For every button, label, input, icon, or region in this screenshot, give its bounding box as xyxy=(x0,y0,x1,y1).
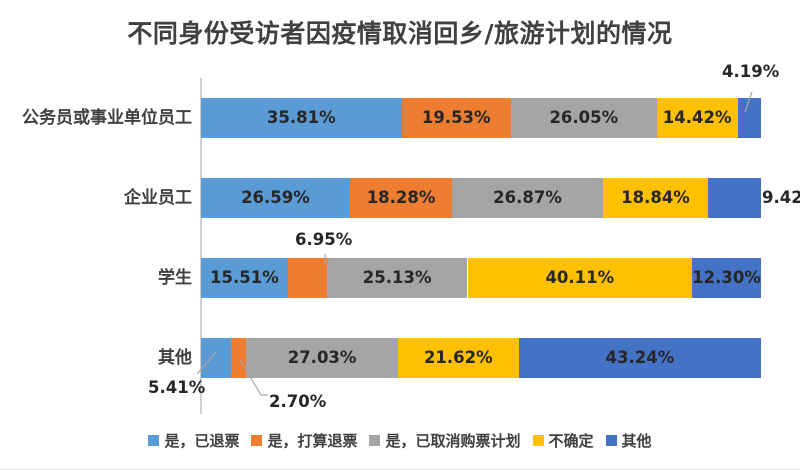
bar-row: 其他27.03%21.62%43.24% xyxy=(0,338,800,378)
legend-item[interactable]: 是，已取消购票计划 xyxy=(369,430,520,451)
bar-segment-label: 40.11% xyxy=(468,258,693,298)
bar-segment[interactable]: 26.59% xyxy=(201,178,350,218)
bar-segment-label: 14.42% xyxy=(657,98,738,138)
legend-swatch-icon xyxy=(369,435,380,446)
bar-segment-label: 21.62% xyxy=(398,338,519,378)
bar-segment[interactable]: 25.13% xyxy=(327,258,468,298)
category-label: 企业员工 xyxy=(124,178,192,218)
legend-item[interactable]: 不确定 xyxy=(533,430,594,451)
bar-segment[interactable]: 43.24% xyxy=(519,338,761,378)
callout-2-70: 2.70% xyxy=(269,392,326,411)
bar-segment[interactable]: 18.84% xyxy=(603,178,709,218)
chart-container: 不同身份受访者因疫情取消回乡/旅游计划的情况 公务员或事业单位员工35.81%1… xyxy=(0,0,800,470)
category-label: 公务员或事业单位员工 xyxy=(22,98,192,138)
chart-title: 不同身份受访者因疫情取消回乡/旅游计划的情况 xyxy=(0,14,800,50)
bar-row: 公务员或事业单位员工35.81%19.53%26.05%14.42% xyxy=(0,98,800,138)
legend-item[interactable]: 是，已退票 xyxy=(148,430,239,451)
bar-segment[interactable] xyxy=(231,338,246,378)
bar-segment[interactable] xyxy=(288,258,327,298)
legend-swatch-icon xyxy=(251,435,262,446)
bar-segment[interactable]: 9.42% xyxy=(708,178,761,218)
bar-segment-label: 9.42% xyxy=(761,178,800,218)
bar-track: 35.81%19.53%26.05%14.42% xyxy=(201,98,761,138)
bar-row: 学生15.51%25.13%40.11%12.30% xyxy=(0,258,800,298)
legend-swatch-icon xyxy=(606,435,617,446)
bar-segment[interactable]: 21.62% xyxy=(398,338,519,378)
bar-segment[interactable]: 26.87% xyxy=(452,178,602,218)
plot-area: 公务员或事业单位员工35.81%19.53%26.05%14.42%企业员工26… xyxy=(0,70,800,420)
legend-item[interactable]: 其他 xyxy=(606,430,652,451)
bar-segment[interactable]: 26.05% xyxy=(511,98,657,138)
bar-segment-label: 25.13% xyxy=(327,258,468,298)
callout-4-19: 4.19% xyxy=(722,62,779,81)
callout-5-41: 5.41% xyxy=(148,378,205,397)
bar-row: 企业员工26.59%18.28%26.87%18.84%9.42% xyxy=(0,178,800,218)
bar-segment-label: 26.05% xyxy=(511,98,657,138)
bar-segment[interactable]: 40.11% xyxy=(468,258,693,298)
bar-segment-label: 15.51% xyxy=(201,258,288,298)
legend-swatch-icon xyxy=(148,435,159,446)
bar-track: 15.51%25.13%40.11%12.30% xyxy=(201,258,761,298)
bar-segment-label: 27.03% xyxy=(246,338,397,378)
bar-segment[interactable]: 27.03% xyxy=(246,338,397,378)
legend-label: 是，打算退票 xyxy=(267,430,357,451)
bar-segment-label: 18.28% xyxy=(350,178,452,218)
bar-segment[interactable] xyxy=(738,98,761,138)
bar-segment-label: 18.84% xyxy=(603,178,709,218)
bar-segment-label: 19.53% xyxy=(402,98,511,138)
bar-segment[interactable]: 18.28% xyxy=(350,178,452,218)
bar-segment-label: 12.30% xyxy=(692,258,761,298)
bar-segment-label: 43.24% xyxy=(519,338,761,378)
bar-segment-label: 26.59% xyxy=(201,178,350,218)
bar-segment-label: 35.81% xyxy=(201,98,402,138)
bar-segment-label: 26.87% xyxy=(452,178,602,218)
legend-label: 是，已退票 xyxy=(164,430,239,451)
legend-label: 其他 xyxy=(622,430,652,451)
legend-label: 不确定 xyxy=(549,430,594,451)
chart-legend: 是，已退票是，打算退票是，已取消购票计划不确定其他 xyxy=(0,430,800,451)
category-label: 学生 xyxy=(158,258,192,298)
bar-track: 27.03%21.62%43.24% xyxy=(201,338,761,378)
bar-segment[interactable]: 15.51% xyxy=(201,258,288,298)
callout-6-95: 6.95% xyxy=(295,230,352,249)
bar-segment[interactable]: 12.30% xyxy=(692,258,761,298)
legend-item[interactable]: 是，打算退票 xyxy=(251,430,357,451)
legend-label: 是，已取消购票计划 xyxy=(385,430,520,451)
bar-segment[interactable]: 14.42% xyxy=(657,98,738,138)
bar-track: 26.59%18.28%26.87%18.84%9.42% xyxy=(201,178,761,218)
category-label: 其他 xyxy=(158,338,192,378)
bar-segment[interactable]: 19.53% xyxy=(402,98,511,138)
bar-segment[interactable]: 35.81% xyxy=(201,98,402,138)
legend-swatch-icon xyxy=(533,435,544,446)
bar-segment[interactable] xyxy=(201,338,231,378)
